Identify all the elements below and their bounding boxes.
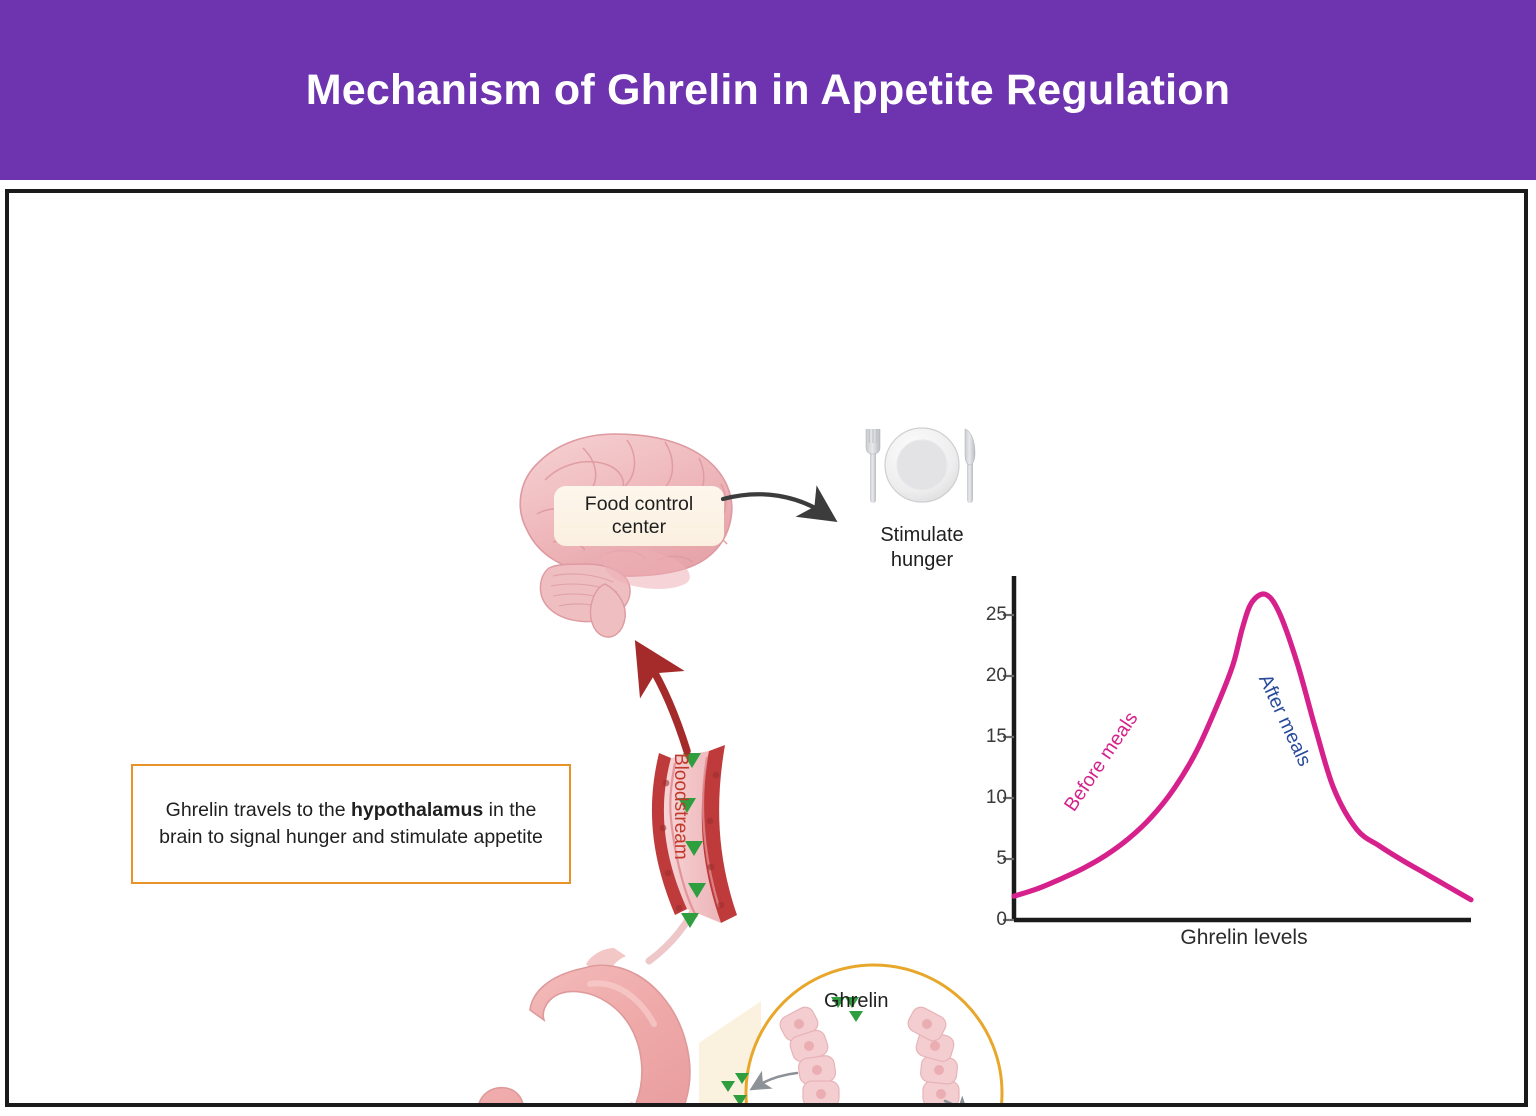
ghrelin-label: Ghrelin <box>824 990 888 1013</box>
info-callout-box: Ghrelin travels to the hypothalamus in t… <box>131 764 571 884</box>
ytick-label-15: 15 <box>977 726 1007 748</box>
bloodstream-vessel <box>609 623 819 973</box>
title-banner: Mechanism of Ghrelin in Appetite Regulat… <box>0 0 1536 180</box>
bloodstream-label: Bloodstream <box>669 753 691 860</box>
ytick-label-20: 20 <box>977 665 1007 687</box>
fork-icon <box>866 429 880 503</box>
knife-icon <box>965 429 975 503</box>
diagram-canvas: Food control center <box>5 189 1528 1107</box>
ghrelin-levels-chart <box>969 568 1489 958</box>
ghrelin-curve <box>1014 594 1471 900</box>
stomach-illustration <box>414 948 744 1107</box>
info-text-bold: hypothalamus <box>351 799 483 821</box>
brain-to-plate-arrow <box>719 481 859 536</box>
ytick-label-10: 10 <box>977 787 1007 809</box>
food-control-center-text: Food control center <box>585 493 693 539</box>
ytick-label-25: 25 <box>977 604 1007 626</box>
info-callout-text: Ghrelin travels to the hypothalamus in t… <box>147 797 555 851</box>
ytick-label-5: 5 <box>977 848 1007 870</box>
info-text-before: Ghrelin travels to the <box>166 799 351 821</box>
food-control-center-label: Food control center <box>554 486 724 546</box>
page-title: Mechanism of Ghrelin in Appetite Regulat… <box>306 66 1230 115</box>
ghrelin-secretion-inset <box>699 953 1029 1107</box>
plate-icon <box>885 428 959 502</box>
stimulate-hunger-label: Stimulate hunger <box>847 523 997 573</box>
chart-x-axis-label: Ghrelin levels <box>1069 926 1419 950</box>
ytick-label-0: 0 <box>977 909 1007 931</box>
plate-fork-knife-icon <box>857 421 987 516</box>
